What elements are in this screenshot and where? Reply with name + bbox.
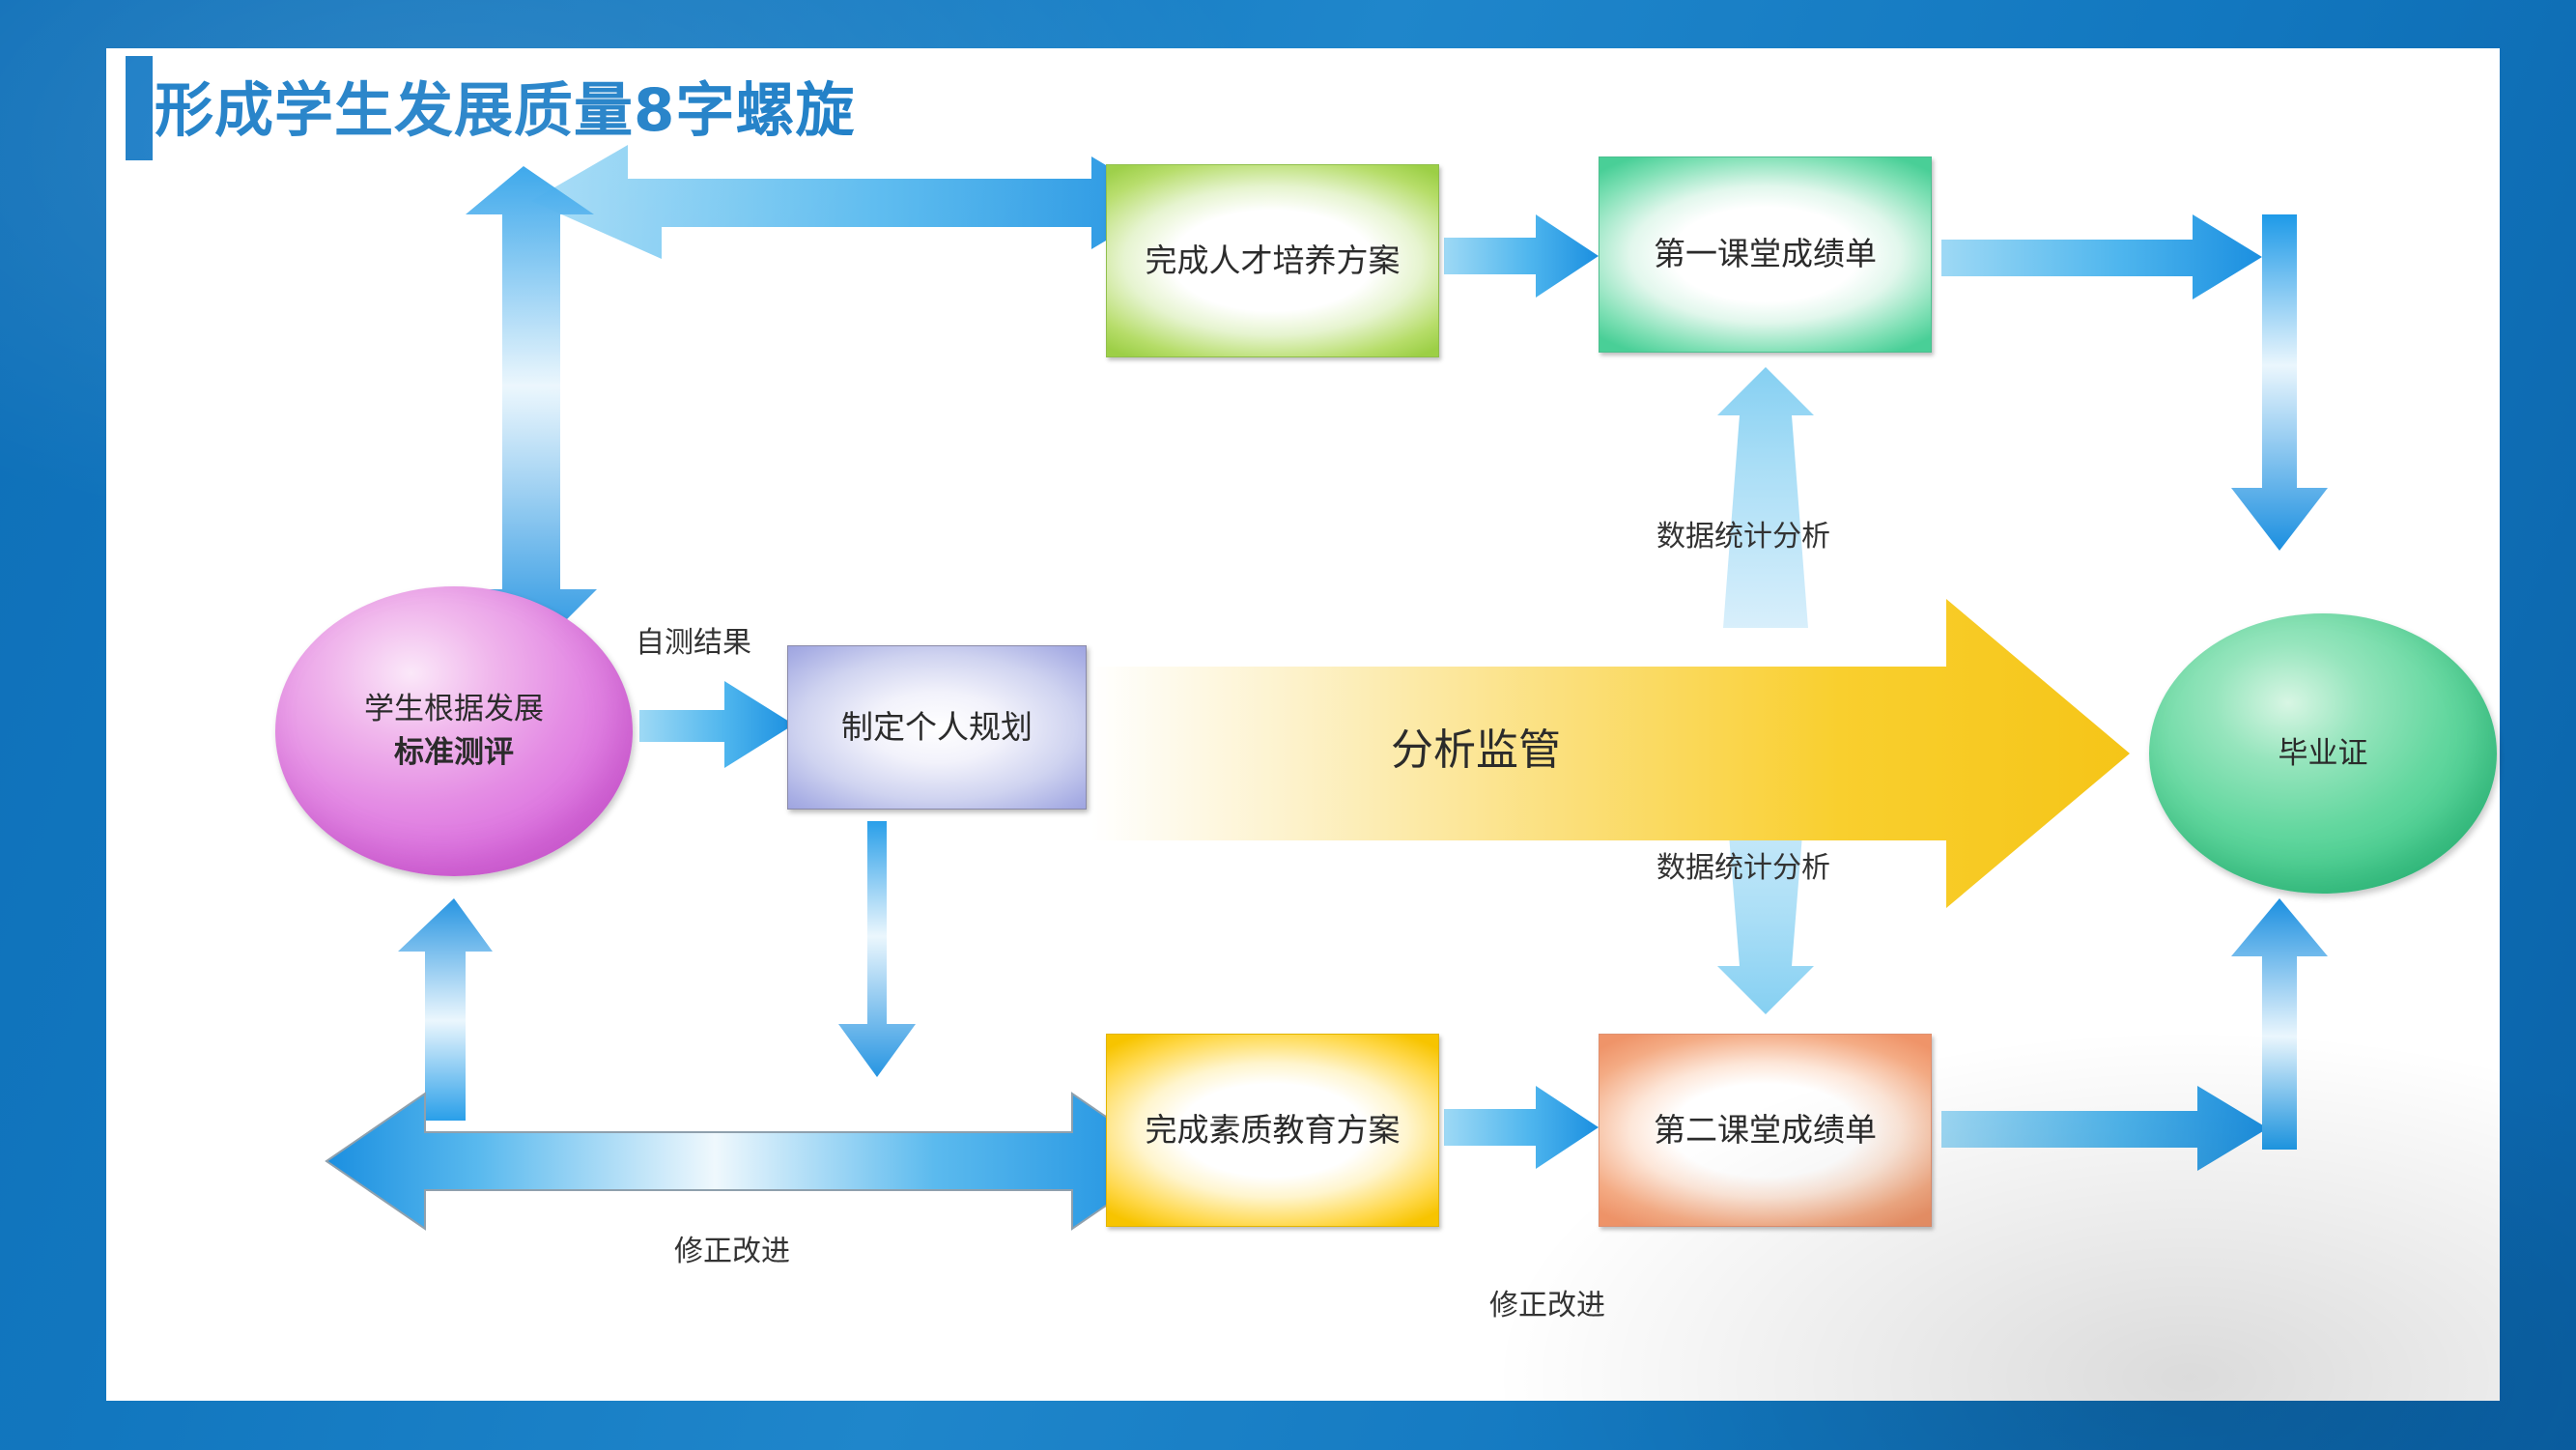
arrow-talent-return-down <box>466 166 597 655</box>
arrow-class1-to-right <box>1941 214 2262 299</box>
arrow-plan-down <box>838 821 916 1077</box>
node-class1[interactable]: 第一课堂成绩单 <box>1599 156 1932 353</box>
arrow-talent-to-class1 <box>1444 214 1599 298</box>
arrow-right-down-to-diploma <box>2231 214 2328 551</box>
edge-label-self-test-result: 自测结果 <box>636 618 751 661</box>
page-title: 形成学生发展质量8字螺旋 <box>126 56 898 162</box>
edge-label-data-analysis-bottom: 数据统计分析 <box>1656 843 1830 886</box>
node-diploma-label: 毕业证 <box>2279 732 2368 776</box>
arrow-assess-to-plan <box>639 681 794 768</box>
arrow-class2-to-right <box>1941 1086 2268 1171</box>
node-talent[interactable]: 完成人才培养方案 <box>1106 164 1439 357</box>
node-diploma[interactable]: 毕业证 <box>2149 613 2497 894</box>
node-class2[interactable]: 第二课堂成绩单 <box>1599 1034 1932 1227</box>
node-talent-label: 完成人才培养方案 <box>1146 240 1401 283</box>
arrow-quality-to-class2 <box>1444 1086 1599 1169</box>
slide-background: 形成学生发展质量8字螺旋 <box>0 0 2576 1450</box>
node-plan-label: 制定个人规划 <box>841 706 1033 750</box>
arrow-revise-improve-double <box>326 1094 1171 1229</box>
slide-canvas: 形成学生发展质量8字螺旋 <box>106 48 2500 1401</box>
node-class1-label: 第一课堂成绩单 <box>1654 233 1877 276</box>
edge-label-revise-improve-left: 修正改进 <box>674 1227 790 1269</box>
arrow-up-to-assess <box>398 898 493 1121</box>
arrow-analysis-supervision-banner <box>1091 599 2130 908</box>
node-assess-label-line1: 学生根据发展 <box>364 688 544 731</box>
node-quality-label: 完成素质教育方案 <box>1146 1109 1401 1152</box>
arrow-right-up-to-diploma <box>2231 898 2328 1150</box>
arrow-data-analysis-bottom <box>1717 763 1814 1014</box>
title-accent-bar <box>126 56 153 160</box>
node-class2-label: 第二课堂成绩单 <box>1654 1109 1877 1152</box>
edge-label-revise-improve-bottom: 修正改进 <box>1489 1281 1605 1323</box>
node-plan[interactable]: 制定个人规划 <box>787 645 1087 810</box>
node-assess-label-line2: 标准测评 <box>364 731 544 775</box>
node-quality[interactable]: 完成素质教育方案 <box>1106 1034 1439 1227</box>
arrow-data-analysis-top <box>1717 367 1814 628</box>
node-assess[interactable]: 学生根据发展 标准测评 <box>275 586 633 876</box>
banner-label-analysis-supervision: 分析监管 <box>1391 715 1561 777</box>
edge-label-data-analysis-top: 数据统计分析 <box>1656 512 1830 554</box>
title-label: 形成学生发展质量8字螺旋 <box>155 62 855 148</box>
